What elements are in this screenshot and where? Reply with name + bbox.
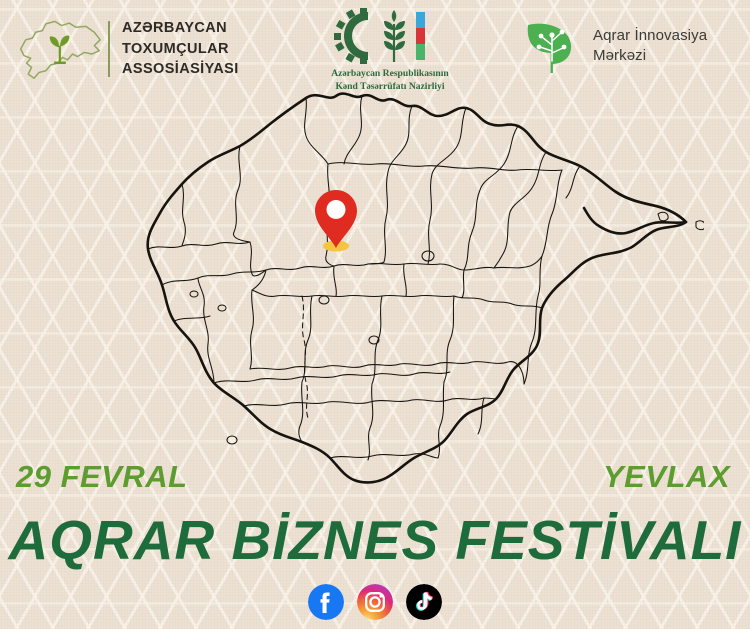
event-city: YEVLAX <box>603 459 730 495</box>
facebook-icon[interactable] <box>308 584 344 620</box>
azerbaijan-flag-bar <box>416 12 425 60</box>
map-caspian-islet-2 <box>696 221 704 230</box>
leaf-circuit-icon <box>523 17 581 75</box>
logo-line-1: Aqrar İnnovasiya <box>593 26 707 46</box>
event-date: 29 FEVRAL <box>16 459 188 495</box>
map-caspian-islet-1 <box>658 212 668 221</box>
pin-hole <box>327 200 346 219</box>
logo-line-2: Mərkəzi <box>593 46 707 66</box>
poster-canvas: AZƏRBAYCAN TOXUMÇULAR ASSOSİASİYASI <box>0 0 750 629</box>
location-pin-icon <box>313 188 359 254</box>
logo-agrarian-innovation-center[interactable]: Aqrar İnnovasiya Mərkəzi <box>523 17 707 75</box>
gear-glyph <box>334 8 368 64</box>
gear-wheat-flag-icon <box>334 8 446 64</box>
map-svg <box>56 72 704 492</box>
map-district-borders-caucasus <box>148 146 266 383</box>
logo-aim-label: Aqrar İnnovasiya Mərkəzi <box>593 26 707 66</box>
map-lakes <box>190 251 434 444</box>
social-links <box>0 584 750 620</box>
map-district-borders-central <box>252 164 562 308</box>
event-title: AQRAR BİZNES FESTİVALI <box>0 508 750 572</box>
logo-line-1: AZƏRBAYCAN <box>122 18 239 39</box>
map-outline-national <box>148 94 686 483</box>
instagram-icon[interactable] <box>357 584 393 620</box>
logo-line-2: TOXUMÇULAR <box>122 39 239 60</box>
logo-divider <box>108 21 110 77</box>
azerbaijan-map <box>56 72 704 492</box>
logo-seed-growers-label: AZƏRBAYCAN TOXUMÇULAR ASSOSİASİYASI <box>122 18 239 80</box>
tiktok-icon[interactable] <box>406 584 442 620</box>
wheat-glyph <box>384 10 405 62</box>
location-pin[interactable] <box>313 188 359 254</box>
map-district-borders-south <box>214 290 538 460</box>
